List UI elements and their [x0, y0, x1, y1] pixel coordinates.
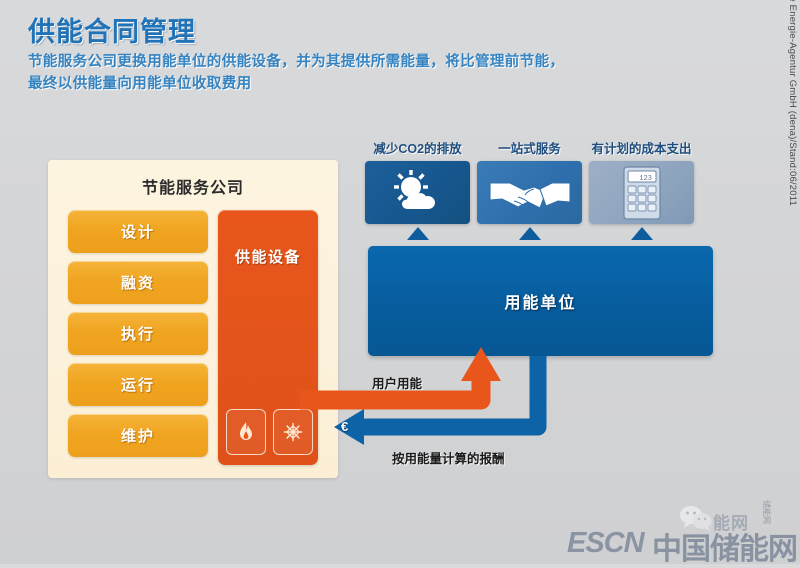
consumer-label: 用能单位 — [368, 289, 713, 313]
source-note: alle: Deutsche Energie-Agentur GmbH (den… — [787, 0, 798, 206]
subtitle-line-2: 最终以供能量向用能单位收取费用 — [28, 74, 728, 96]
snowflake-icon — [283, 422, 303, 442]
snowflake-icon-box[interactable] — [273, 409, 313, 455]
watermark-vertical: 储能网 — [761, 500, 772, 524]
flow-arrow-up-onestop — [519, 227, 541, 240]
calculator-icon: 123 — [622, 165, 662, 221]
esco-panel: 节能服务公司 设计 融资 执行 运行 维护 供能设备 — [48, 160, 338, 478]
flow-label-supply: 用户用能 — [372, 373, 422, 392]
esco-item-label: 执行 — [121, 323, 155, 344]
watermark-wechat-text: 能网 — [713, 509, 749, 534]
flame-icon-box[interactable] — [226, 409, 266, 455]
esco-item-operation[interactable]: 运行 — [68, 363, 208, 406]
equipment-label: 供能设备 — [218, 246, 318, 267]
benefit-card-label: 一站式服务 — [477, 138, 582, 157]
subtitle-line-1: 节能服务公司更换用能单位的供能设备，并为其提供所需能量，将比管理前节能， — [28, 52, 728, 74]
benefit-card-label: 有计划的成本支出 — [589, 138, 694, 157]
benefit-card-cost[interactable]: 有计划的成本支出 123 — [589, 138, 694, 240]
flow-arrow-payment — [334, 356, 538, 445]
flame-icon — [238, 421, 254, 443]
esco-item-financing[interactable]: 融资 — [68, 261, 208, 304]
benefit-card-onestop[interactable]: 一站式服务 — [477, 138, 582, 240]
esco-panel-title: 节能服务公司 — [48, 174, 338, 198]
page-subtitle: 节能服务公司更换用能单位的供能设备，并为其提供所需能量，将比管理前节能， 最终以… — [28, 52, 728, 96]
benefit-card-label: 减少CO2的排放 — [365, 138, 470, 157]
esco-item-maintenance[interactable]: 维护 — [68, 414, 208, 457]
esco-item-design[interactable]: 设计 — [68, 210, 208, 253]
wechat-icon — [679, 505, 713, 531]
esco-item-label: 运行 — [121, 374, 155, 395]
page-header: 供能合同管理 节能服务公司更换用能单位的供能设备，并为其提供所需能量，将比管理前… — [28, 18, 728, 96]
benefit-card-tile[interactable] — [477, 161, 582, 224]
benefit-card-tile[interactable] — [365, 161, 470, 224]
energy-consumer-box[interactable]: 用能单位 — [368, 246, 713, 356]
flow-arrow-up-co2 — [407, 227, 429, 240]
esco-item-label: 维护 — [121, 425, 155, 446]
watermark-escn: ESCN — [567, 527, 644, 560]
benefit-card-co2[interactable]: 减少CO2的排放 — [365, 138, 470, 240]
page-title: 供能合同管理 — [28, 18, 728, 46]
esco-item-execution[interactable]: 执行 — [68, 312, 208, 355]
esco-item-label: 设计 — [121, 221, 155, 242]
flow-label-payment: 按用能量计算的报酬 — [392, 448, 505, 467]
esco-service-list: 设计 融资 执行 运行 维护 — [68, 210, 208, 465]
equipment-icon-row — [226, 409, 313, 455]
calculator-display: 123 — [639, 175, 652, 183]
energy-supply-equipment-box[interactable]: 供能设备 — [218, 210, 318, 465]
flow-arrow-up-cost — [631, 227, 653, 240]
euro-badge: € — [341, 419, 348, 434]
sun-cloud-icon — [381, 168, 455, 218]
benefit-card-tile[interactable]: 123 — [589, 161, 694, 224]
handshake-icon — [488, 170, 572, 216]
esco-item-label: 融资 — [121, 272, 155, 293]
